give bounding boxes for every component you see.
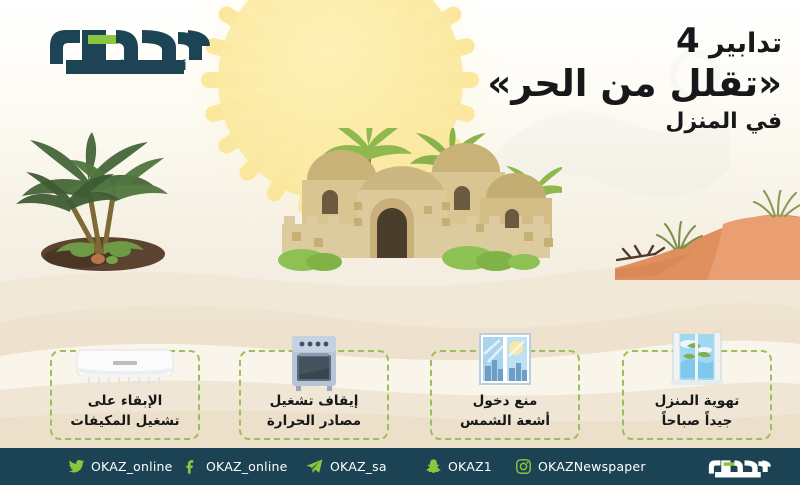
social-handle: OKAZ_sa [330,459,387,474]
closed-window-icon [476,332,534,392]
social-telegram[interactable]: OKAZ_sa [305,448,387,485]
okaz-logo-tagline: أن تكون أولاً [120,60,186,73]
stove-icon [286,332,342,392]
tip-card-turn-off-heat-sources[interactable]: إيقاف تشغيل مصادر الحرارة [239,350,389,440]
twitter-icon [68,458,85,475]
adobe-house-illustration [262,128,562,278]
social-handle: OKAZ1 [448,459,492,474]
headline-line-3: في المنزل [432,109,782,135]
social-snapchat[interactable]: OKAZ1 [425,448,492,485]
headline-line-2: «تقلل من الحر» [432,63,782,106]
social-facebook[interactable]: OKAZ_online [183,448,288,485]
social-instagram[interactable]: OKAZNewspaper [515,448,646,485]
air-conditioner-icon [75,346,175,392]
tip-card-label: منع دخول أشعة الشمس [432,392,578,431]
footer-bar: OKAZ_online OKAZ_online OKAZ_sa OKAZ1 [0,448,800,485]
palm-cluster-left [8,126,198,276]
social-handle: OKAZNewspaper [538,459,646,474]
infographic-root: تدابير 4 «تقلل من الحر» في المنزل أن تكو… [0,0,800,485]
tip-card-keep-ac-running[interactable]: الإبقاء على تشغيل المكيفات [50,350,200,440]
tip-card-label: تهوية المنزل جيداً صباحاً [624,392,770,431]
social-twitter[interactable]: OKAZ_online [68,448,173,485]
tip-card-label: الإبقاء على تشغيل المكيفات [52,392,198,431]
headline-count-label: تدابير [709,28,782,59]
social-handle: OKAZ_online [206,459,288,474]
social-handle: OKAZ_online [91,459,173,474]
facebook-icon [183,458,200,475]
tip-card-ventilate-home[interactable]: تهوية المنزل جيداً صباحاً [622,350,772,440]
telegram-icon [305,457,324,476]
tip-card-block-sunlight[interactable]: منع دخول أشعة الشمس [430,350,580,440]
snapchat-icon [425,458,442,475]
tip-card-label: إيقاف تشغيل مصادر الحرارة [241,392,387,431]
headline: تدابير 4 «تقلل من الحر» في المنزل [432,22,782,135]
open-window-icon [667,330,727,392]
tips-card-row: تهوية المنزل جيداً صباحاً [0,300,800,445]
instagram-icon [515,458,532,475]
okaz-footer-logo [696,455,786,479]
headline-count-number: 4 [676,21,700,61]
sand-dune-right [615,190,800,280]
headline-line-1: تدابير 4 [432,22,782,61]
